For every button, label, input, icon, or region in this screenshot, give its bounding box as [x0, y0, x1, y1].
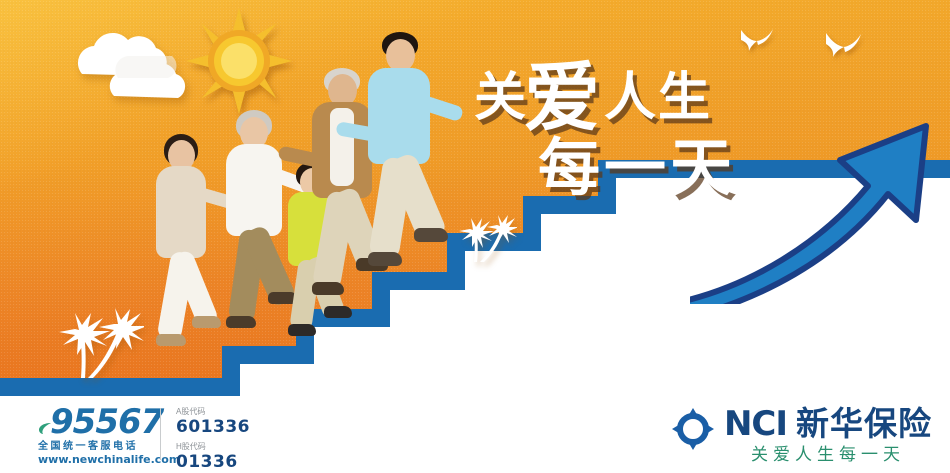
brand-name-row: NCI 新华保险 [724, 406, 932, 442]
stock-codes-block: A股代码 601336 H股代码 01336 [176, 406, 250, 473]
footer-bar: 95567 全国统一客服电话 www.newchinalife.com A股代码… [0, 400, 950, 473]
headline-char-guan: 关 [474, 70, 528, 126]
brand-text: NCI 新华保险 关爱人生每一天 [724, 406, 932, 466]
company-website[interactable]: www.newchinalife.com [38, 453, 148, 466]
shoe [312, 282, 344, 295]
hotline-number: 95567 [50, 402, 163, 442]
nci-diamond-logo-icon [672, 408, 714, 450]
bird-icon [740, 28, 774, 52]
footer-divider [160, 408, 161, 460]
headline-line-1: 关 爱 人生 [474, 66, 712, 126]
hotline-number-row: 95567 [38, 405, 148, 439]
shoe [414, 228, 448, 242]
person-young-man [358, 32, 450, 342]
brand-lockup: NCI 新华保险 关爱人生每一天 [672, 406, 932, 466]
bird-icon [824, 32, 862, 58]
advertisement-poster: 关 爱 人生 每一天 [0, 0, 950, 473]
leaf-accent-icon [38, 408, 52, 422]
brand-abbr: NCI [724, 406, 787, 442]
headline-line-2: 每一天 [538, 136, 736, 202]
shoe [226, 316, 256, 328]
a-share-label: A股代码 [176, 406, 250, 417]
h-share-code: 01336 [176, 452, 250, 472]
brand-slogan: 关爱人生每一天 [724, 444, 932, 466]
customer-service-hotline: 95567 全国统一客服电话 www.newchinalife.com [38, 405, 148, 466]
headline-char-ai: 爱 [524, 66, 602, 132]
a-share-code: 601336 [176, 417, 250, 437]
palm-tree-icon [455, 214, 517, 262]
hotline-caption: 全国统一客服电话 [38, 441, 148, 453]
page-title: 关 爱 人生 每一天 [474, 66, 804, 206]
person-young-woman [140, 134, 220, 414]
h-share-label: H股代码 [176, 441, 250, 452]
shoe [156, 334, 186, 346]
family-photo-group [130, 24, 430, 400]
torso [226, 144, 282, 236]
torso [156, 166, 206, 258]
headline-chars-rensheng: 人生 [604, 70, 712, 126]
brand-name-cn: 新华保险 [796, 406, 932, 442]
torso [368, 68, 430, 164]
shirt [330, 108, 354, 186]
shoe [368, 252, 402, 266]
